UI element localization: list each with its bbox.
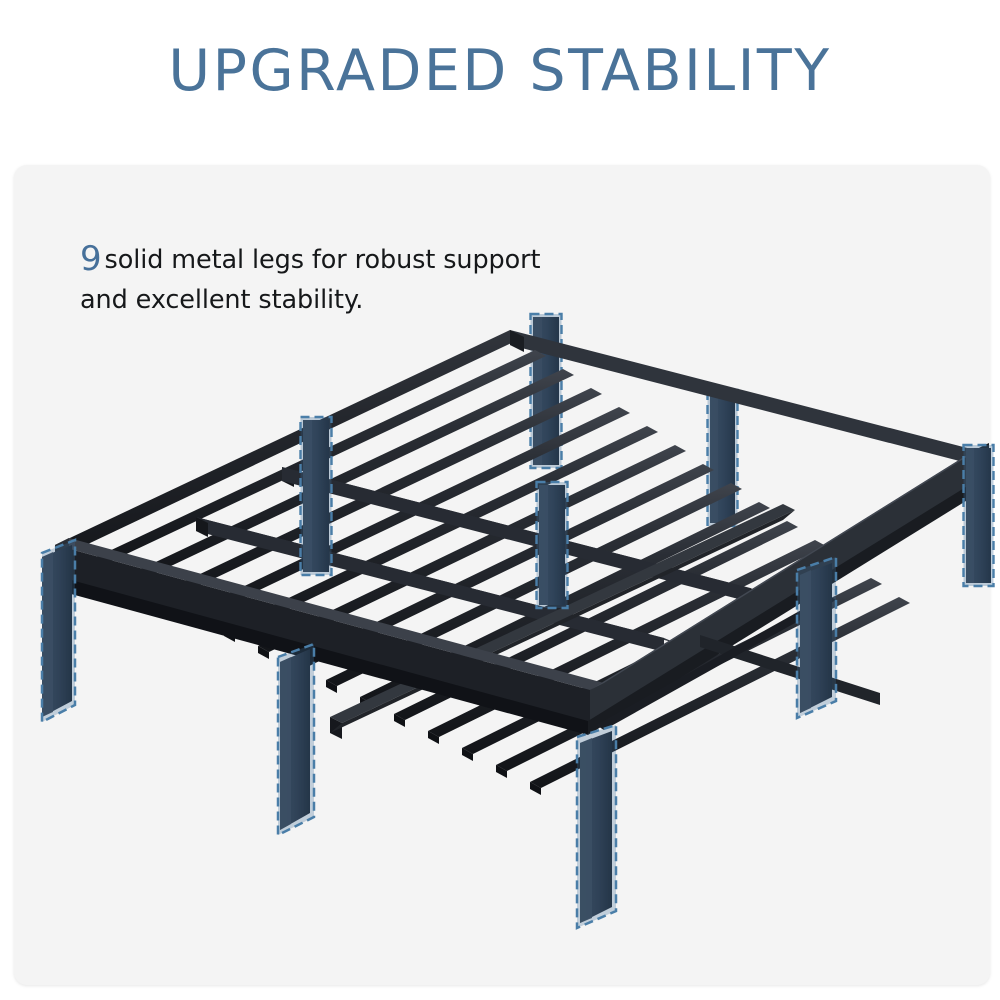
leg-left-mid [301,417,332,575]
leg-right-front [797,557,836,718]
leg-back-mid [708,390,738,526]
leg-front-corner [577,725,616,928]
leg-right-back [964,445,994,586]
leg-front-mid [278,644,314,835]
page-title: UPGRADED STABILITY [0,38,1000,104]
infographic-root: UPGRADED STABILITY 9solid metal legs for… [0,0,1000,1000]
bed-frame-illustration [0,165,1000,985]
front-right-rail [590,443,989,725]
leg-center-support [537,482,568,608]
bed-frame-svg [0,165,1000,985]
leg-left-front [42,540,75,722]
